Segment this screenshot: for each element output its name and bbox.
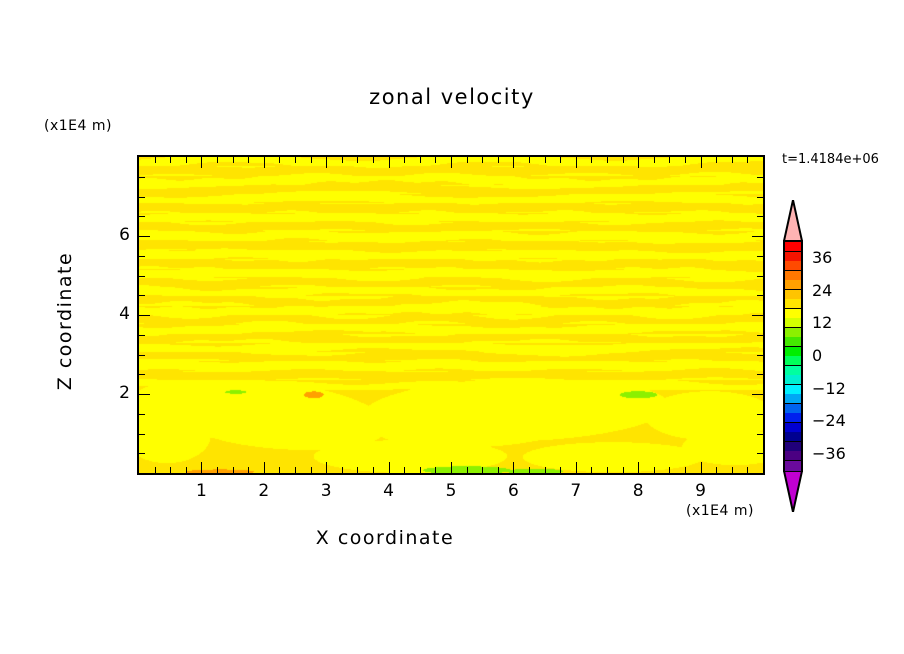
x-tick-minor: [638, 462, 639, 473]
x-tick-minor: [607, 467, 608, 473]
y-tick-minor: [139, 394, 150, 395]
y-tick-minor: [139, 216, 145, 217]
x-tick-label: 4: [374, 481, 404, 501]
x-tick-minor: [701, 462, 702, 473]
x-tick-minor: [279, 467, 280, 473]
y-tick-minor: [752, 315, 763, 316]
colorbar-overflow-arrow: [783, 200, 803, 241]
y-tick-minor: [139, 276, 145, 277]
y-tick-minor: [139, 414, 145, 415]
x-tick-minor: [576, 157, 577, 168]
x-tick-minor: [326, 462, 327, 473]
y-tick-minor: [752, 394, 763, 395]
x-tick-label: 3: [311, 481, 341, 501]
y-tick-minor: [757, 335, 763, 336]
y-tick-minor: [139, 256, 145, 257]
x-tick-minor: [732, 467, 733, 473]
x-tick-minor: [170, 467, 171, 473]
x-tick-minor: [498, 157, 499, 163]
y-tick-minor: [139, 315, 150, 316]
x-tick-minor: [545, 467, 546, 473]
y-tick-minor: [757, 414, 763, 415]
x-tick-minor: [607, 157, 608, 163]
y-tick-minor: [139, 453, 145, 454]
x-tick-minor: [451, 462, 452, 473]
x-tick-minor: [326, 157, 327, 168]
colorbar-tick-label: 24: [812, 281, 832, 300]
x-tick-minor: [264, 462, 265, 473]
colorbar-tick-label: 36: [812, 248, 832, 267]
x-tick-minor: [295, 157, 296, 163]
x-axis-title: X coordinate: [0, 527, 770, 549]
colorbar-underflow-arrow: [783, 471, 803, 512]
contour-field-canvas: [139, 157, 763, 473]
y-tick-minor: [757, 453, 763, 454]
x-tick-minor: [357, 467, 358, 473]
x-tick-minor: [467, 157, 468, 163]
x-tick-minor: [201, 462, 202, 473]
x-tick-minor: [685, 467, 686, 473]
y-tick-minor: [757, 197, 763, 198]
x-tick-minor: [560, 467, 561, 473]
x-tick-label: 6: [498, 481, 528, 501]
x-tick-minor: [685, 157, 686, 163]
x-tick-minor: [373, 467, 374, 473]
y-tick-minor: [139, 177, 145, 178]
x-tick-minor: [638, 157, 639, 168]
x-tick-minor: [264, 157, 265, 168]
x-tick-minor: [389, 462, 390, 473]
x-tick-minor: [342, 467, 343, 473]
y-tick-minor: [757, 216, 763, 217]
x-tick-minor: [451, 157, 452, 168]
y-tick-minor: [757, 434, 763, 435]
y-tick-minor: [139, 374, 145, 375]
x-tick-minor: [747, 157, 748, 163]
y-axis-title: Z coordinate: [54, 221, 76, 421]
x-tick-minor: [560, 157, 561, 163]
y-tick-label: 4: [104, 304, 130, 324]
colorbar-tick-label: −36: [812, 444, 846, 463]
x-tick-minor: [513, 157, 514, 168]
x-tick-minor: [591, 467, 592, 473]
x-tick-minor: [435, 157, 436, 163]
x-tick-minor: [716, 467, 717, 473]
x-tick-minor: [248, 467, 249, 473]
x-tick-label: 2: [249, 481, 279, 501]
x-tick-label: 1: [186, 481, 216, 501]
x-tick-label: 7: [561, 481, 591, 501]
colorbar-tick-label: −12: [812, 379, 846, 398]
y-tick-minor: [757, 295, 763, 296]
x-tick-minor: [186, 157, 187, 163]
x-tick-minor: [576, 462, 577, 473]
y-tick-minor: [757, 355, 763, 356]
y-tick-minor: [757, 374, 763, 375]
x-tick-minor: [498, 467, 499, 473]
x-tick-minor: [716, 157, 717, 163]
x-tick-minor: [654, 467, 655, 473]
x-tick-minor: [482, 467, 483, 473]
y-tick-minor: [139, 335, 145, 336]
x-tick-minor: [373, 157, 374, 163]
x-tick-minor: [404, 467, 405, 473]
x-tick-minor: [701, 157, 702, 168]
y-tick-minor: [752, 236, 763, 237]
x-tick-label: 8: [623, 481, 653, 501]
x-tick-minor: [295, 467, 296, 473]
timestamp-annotation: t=1.4184e+06: [782, 152, 879, 167]
y-tick-minor: [139, 236, 150, 237]
x-tick-minor: [545, 157, 546, 163]
colorbar-band: [785, 461, 801, 471]
contour-plot-area: [137, 155, 765, 475]
x-tick-minor: [357, 157, 358, 163]
y-tick-minor: [139, 197, 145, 198]
x-tick-minor: [279, 157, 280, 163]
colorbar-tick-label: 0: [812, 346, 822, 365]
x-tick-minor: [342, 157, 343, 163]
y-tick-minor: [139, 355, 145, 356]
chart-title: zonal velocity: [0, 85, 904, 109]
x-tick-minor: [623, 467, 624, 473]
x-tick-minor: [732, 157, 733, 163]
x-tick-minor: [404, 157, 405, 163]
x-axis-unit-label: (x1E4 m): [686, 503, 754, 519]
x-tick-minor: [311, 157, 312, 163]
colorbar: [783, 240, 803, 472]
x-tick-minor: [669, 467, 670, 473]
x-tick-minor: [435, 467, 436, 473]
x-tick-label: 9: [686, 481, 716, 501]
x-tick-minor: [747, 467, 748, 473]
x-tick-minor: [513, 462, 514, 473]
x-tick-minor: [201, 157, 202, 168]
x-tick-minor: [233, 157, 234, 163]
x-tick-minor: [186, 467, 187, 473]
y-tick-minor: [757, 177, 763, 178]
y-tick-label: 2: [104, 383, 130, 403]
y-tick-minor: [757, 256, 763, 257]
x-tick-minor: [529, 157, 530, 163]
x-tick-minor: [669, 157, 670, 163]
x-tick-minor: [155, 157, 156, 163]
x-tick-minor: [217, 157, 218, 163]
x-tick-minor: [217, 467, 218, 473]
x-tick-minor: [654, 157, 655, 163]
x-tick-minor: [623, 157, 624, 163]
x-tick-minor: [155, 467, 156, 473]
x-tick-label: 5: [436, 481, 466, 501]
x-tick-minor: [420, 467, 421, 473]
x-tick-minor: [389, 157, 390, 168]
x-tick-minor: [420, 157, 421, 163]
x-tick-minor: [311, 467, 312, 473]
x-tick-minor: [170, 157, 171, 163]
colorbar-tick-label: −24: [812, 411, 846, 430]
x-tick-minor: [529, 467, 530, 473]
y-tick-minor: [139, 434, 145, 435]
x-tick-minor: [248, 157, 249, 163]
colorbar-tick-label: 12: [812, 313, 832, 332]
y-tick-label: 6: [104, 225, 130, 245]
y-tick-minor: [139, 295, 145, 296]
x-tick-minor: [467, 467, 468, 473]
x-tick-minor: [591, 157, 592, 163]
y-tick-minor: [757, 276, 763, 277]
y-axis-unit-label: (x1E4 m): [44, 118, 112, 134]
x-tick-minor: [233, 467, 234, 473]
x-tick-minor: [482, 157, 483, 163]
